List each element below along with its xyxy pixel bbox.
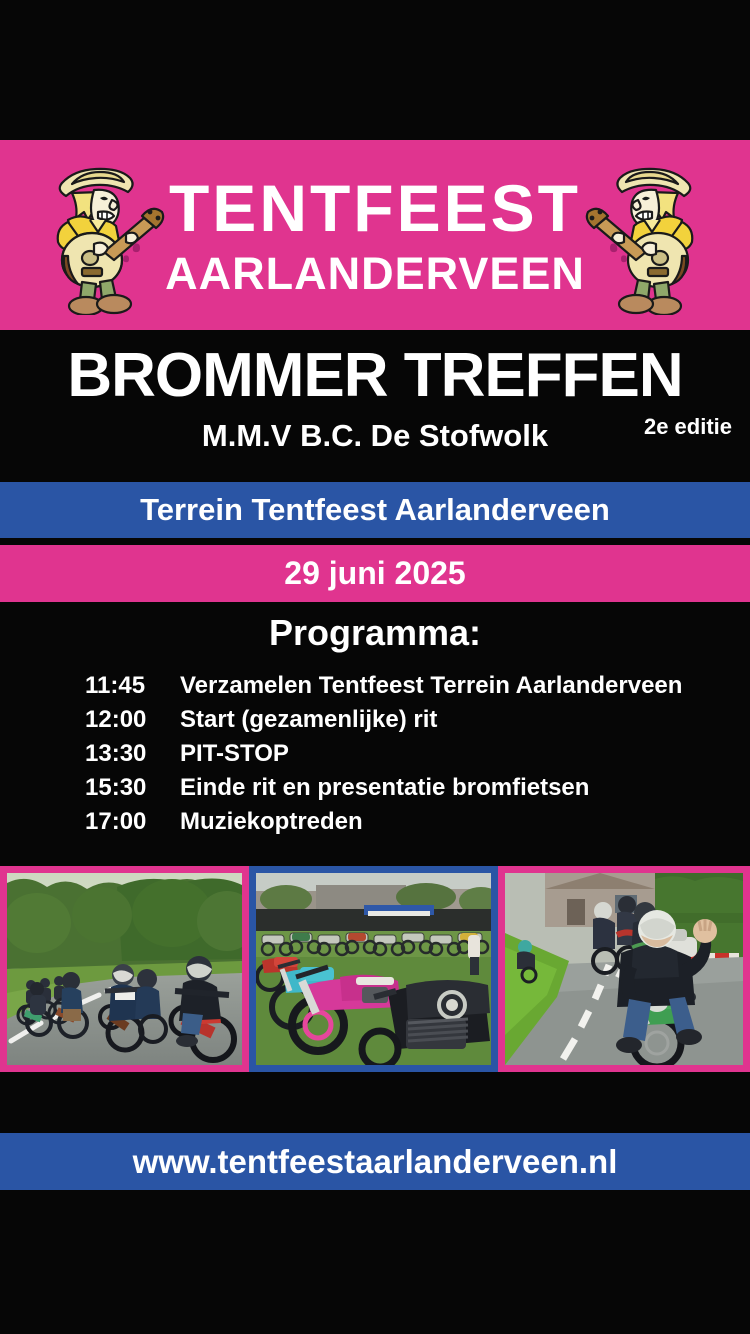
header-titles: TENTFEEST AARLANDERVEEN bbox=[165, 175, 585, 296]
poster: TENTFEEST AARLANDERVEEN bbox=[0, 0, 750, 1334]
photo-moped-group-ride bbox=[0, 866, 249, 1072]
programme-time: 13:30 bbox=[85, 740, 180, 768]
programme-description: PIT-STOP bbox=[180, 740, 289, 768]
event-title-block: BROMMER TREFFEN M.M.V B.C. De Stofwolk 2… bbox=[0, 330, 750, 482]
programme-row: 15:30 Einde rit en presentatie bromfiets… bbox=[85, 774, 750, 802]
programme-time: 12:00 bbox=[85, 706, 180, 734]
programme-title: Programma: bbox=[0, 612, 750, 654]
programme-row: 13:30 PIT-STOP bbox=[85, 740, 750, 768]
location-text: Terrein Tentfeest Aarlanderveen bbox=[140, 492, 610, 528]
cowboy-guitar-mascot-icon-right bbox=[582, 160, 712, 315]
cowboy-guitar-mascot-icon bbox=[38, 160, 168, 315]
programme-time: 15:30 bbox=[85, 774, 180, 802]
event-subtitle: M.M.V B.C. De Stofwolk bbox=[0, 418, 750, 454]
programme-time: 11:45 bbox=[85, 672, 180, 700]
programme-description: Einde rit en presentatie bromfietsen bbox=[180, 774, 589, 802]
festival-title: TENTFEEST bbox=[165, 175, 585, 241]
programme-row: 11:45 Verzamelen Tentfeest Terrein Aarla… bbox=[85, 672, 750, 700]
date-band: 29 juni 2025 bbox=[0, 545, 750, 602]
programme-row: 17:00 Muziekoptreden bbox=[85, 808, 750, 836]
photo-rider-waving bbox=[498, 866, 750, 1072]
website-band[interactable]: www.tentfeestaarlanderveen.nl bbox=[0, 1133, 750, 1190]
website-url[interactable]: www.tentfeestaarlanderveen.nl bbox=[133, 1143, 618, 1181]
programme-description: Start (gezamenlijke) rit bbox=[180, 706, 437, 734]
programme-list: 11:45 Verzamelen Tentfeest Terrein Aarla… bbox=[0, 672, 750, 836]
programme-time: 17:00 bbox=[85, 808, 180, 836]
programme-row: 12:00 Start (gezamenlijke) rit bbox=[85, 706, 750, 734]
programme-section: Programma: 11:45 Verzamelen Tentfeest Te… bbox=[0, 612, 750, 842]
date-text: 29 juni 2025 bbox=[284, 555, 465, 592]
location-band: Terrein Tentfeest Aarlanderveen bbox=[0, 482, 750, 538]
photo-parked-mopeds bbox=[249, 866, 498, 1072]
header-band: TENTFEEST AARLANDERVEEN bbox=[0, 140, 750, 330]
programme-description: Verzamelen Tentfeest Terrein Aarlanderve… bbox=[180, 672, 682, 700]
event-edition-badge: 2e editie bbox=[644, 414, 732, 440]
festival-location-title: AARLANDERVEEN bbox=[165, 251, 585, 296]
photo-strip bbox=[0, 866, 750, 1072]
programme-description: Muziekoptreden bbox=[180, 808, 363, 836]
event-title: BROMMER TREFFEN bbox=[0, 342, 750, 410]
